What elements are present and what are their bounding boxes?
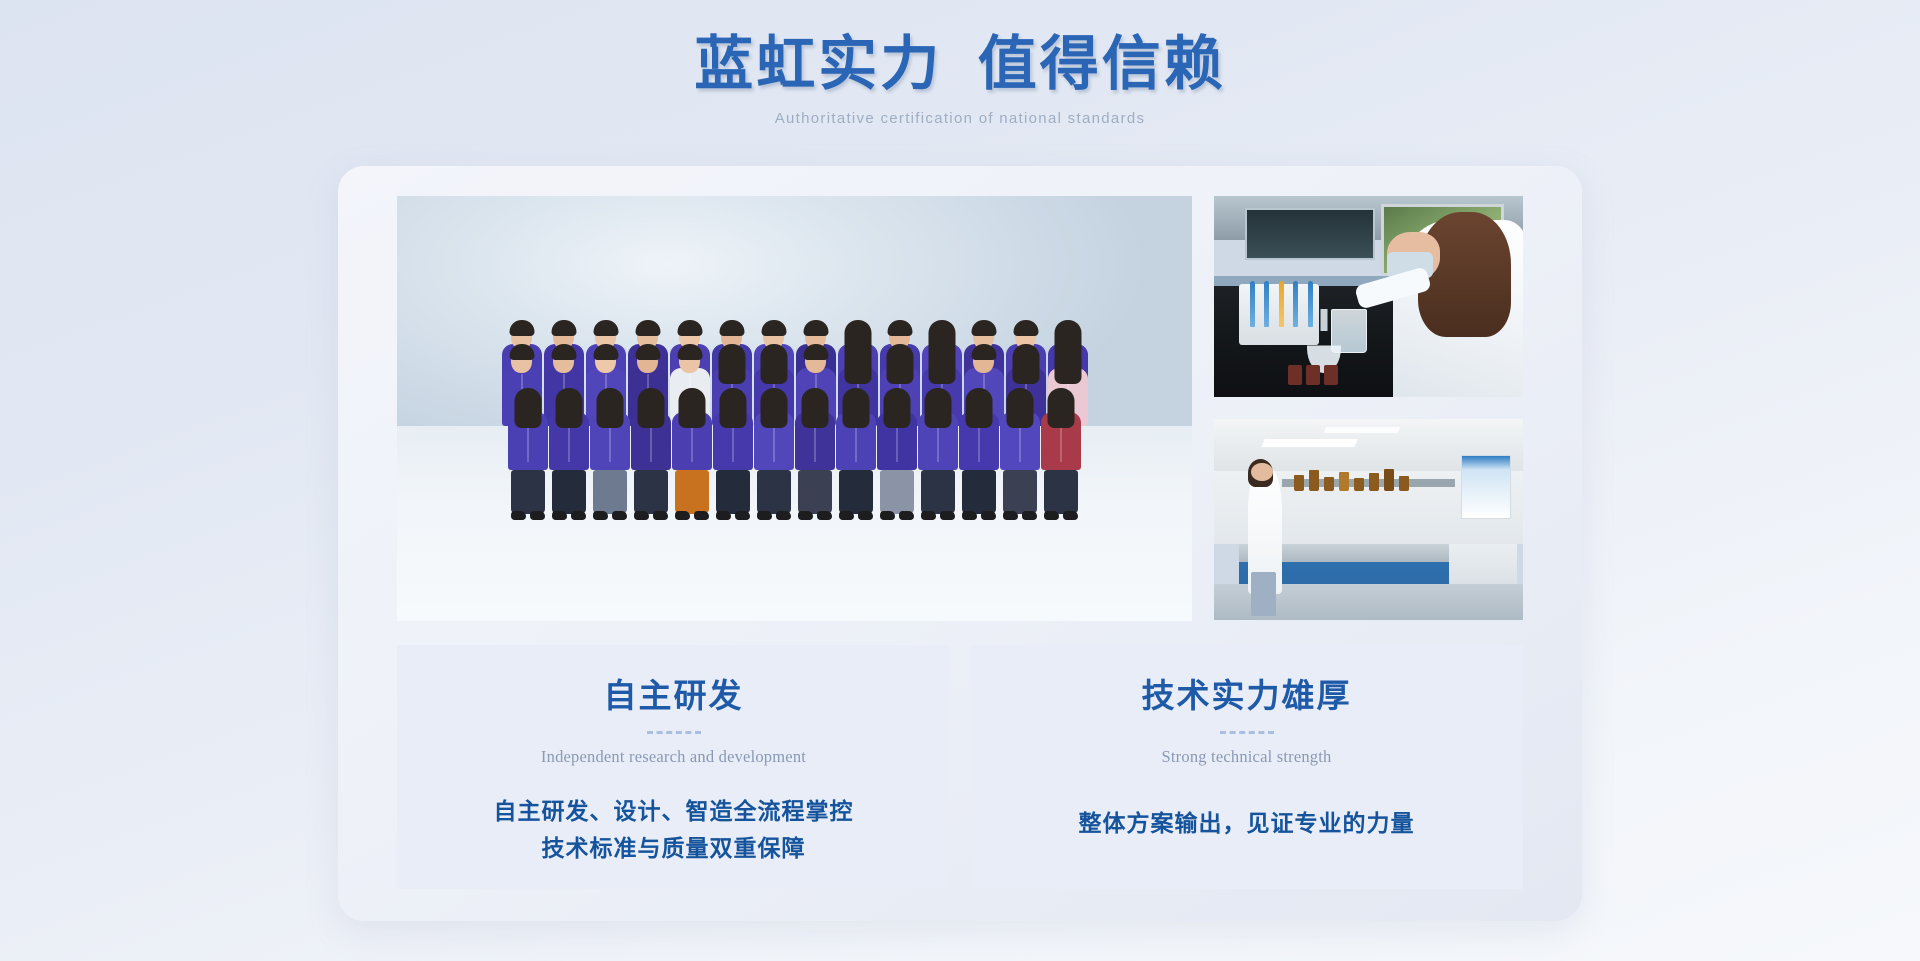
ceiling-light-2 — [1324, 427, 1401, 433]
feature-card-subtitle: Strong technical strength — [970, 747, 1523, 767]
feature-card-subtitle: Independent research and development — [397, 747, 950, 767]
page-title: 蓝虹实力 值得信赖 — [0, 30, 1920, 100]
wall-poster — [1461, 455, 1510, 519]
reagent-vials — [1288, 365, 1338, 385]
laboratory-room-photo — [1214, 419, 1523, 620]
lab-fume-hood — [1245, 208, 1375, 260]
team-row-front — [397, 392, 1192, 514]
researcher-jeans — [1251, 572, 1276, 616]
researcher-head — [1251, 463, 1273, 481]
team-members — [397, 196, 1192, 621]
reagent-bottles — [1294, 469, 1409, 491]
dashed-divider — [647, 731, 701, 734]
lab-technician-pipetting-photo — [1214, 196, 1523, 397]
dashed-divider — [1220, 731, 1274, 734]
feature-card-rnd: 自主研发 Independent research and developmen… — [397, 645, 950, 889]
feature-card-title: 技术实力雄厚 — [970, 678, 1523, 718]
feature-card-body: 自主研发、设计、智造全流程掌控 技术标准与质量双重保障 — [397, 793, 950, 868]
lab-photo-column — [1214, 196, 1523, 621]
feature-cards: 自主研发 Independent research and developmen… — [397, 645, 1523, 889]
feature-card-title: 自主研发 — [397, 678, 950, 718]
page-header: 蓝虹实力 值得信赖 Authoritative certification of… — [0, 0, 1920, 127]
ceiling-light — [1262, 439, 1358, 447]
photo-gallery — [397, 196, 1523, 621]
content-panel: 自主研发 Independent research and developmen… — [338, 166, 1582, 921]
team-group-photo — [397, 196, 1192, 621]
feature-card-technical: 技术实力雄厚 Strong technical strength 整体方案输出，… — [970, 645, 1523, 889]
page-subtitle: Authoritative certification of national … — [0, 110, 1920, 127]
feature-card-body: 整体方案输出，见证专业的力量 — [970, 805, 1523, 842]
